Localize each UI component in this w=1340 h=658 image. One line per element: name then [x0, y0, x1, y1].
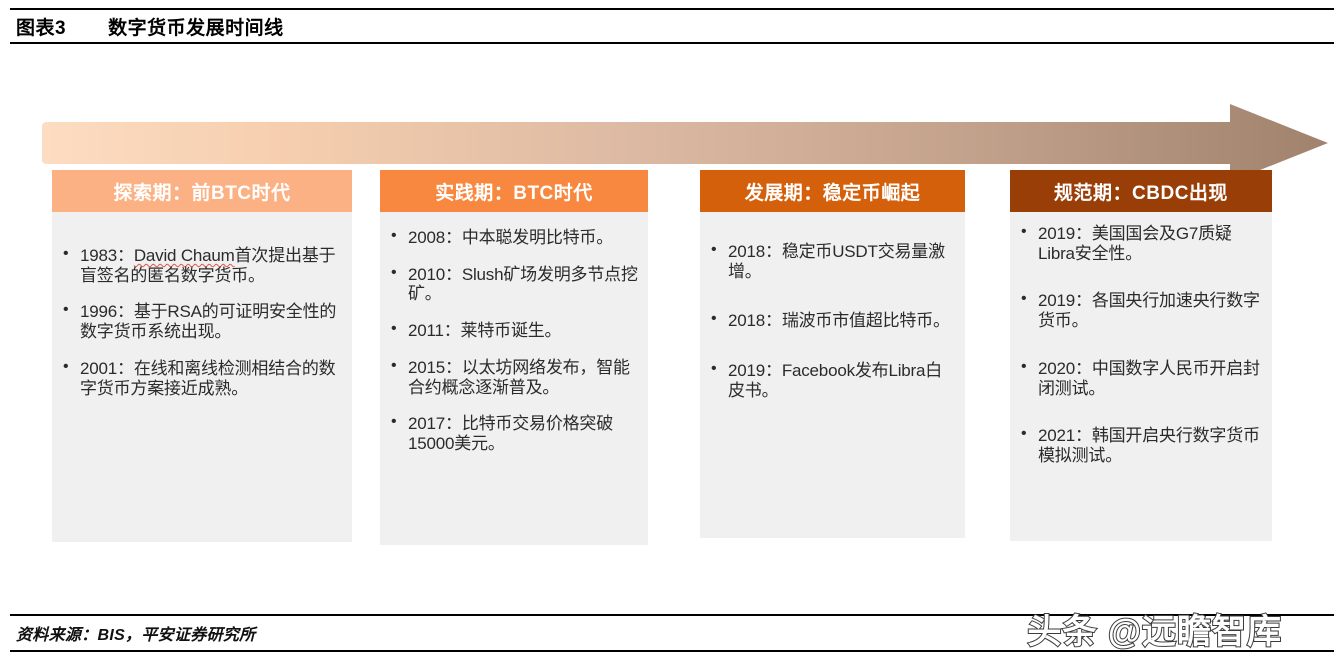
- list-item: 2001：在线和离线检测相结合的数字货币方案接近成熟。: [58, 359, 342, 398]
- bullet-list: 2008：中本聪发明比特币。 2010：Slush矿场发明多节点挖矿。 2011…: [386, 228, 638, 454]
- source-note: 资料来源：BIS，平安证券研究所: [10, 621, 255, 645]
- timeline-column-practice[interactable]: 实践期：BTC时代 2008：中本聪发明比特币。 2010：Slush矿场发明多…: [380, 170, 648, 545]
- column-header-exploration: 探索期：前BTC时代: [52, 170, 352, 212]
- list-item: 2017：比特币交易价格突破15000美元。: [386, 414, 638, 453]
- timeline-columns: 探索期：前BTC时代 1983：David Chaum首次提出基于盲签名的匿名数…: [0, 170, 1340, 550]
- list-item: 2021：韩国开启央行数字货币模拟测试。: [1016, 426, 1262, 465]
- figure-label: 图表3: [10, 13, 66, 40]
- list-item: 2018：瑞波币市值超比特币。: [706, 311, 955, 331]
- column-body-development: 2018：稳定币USDT交易量激增。 2018：瑞波币市值超比特币。 2019：…: [700, 212, 965, 538]
- column-header-development: 发展期：稳定币崛起: [700, 170, 965, 212]
- list-item: 2008：中本聪发明比特币。: [386, 228, 638, 248]
- column-body-practice: 2008：中本聪发明比特币。 2010：Slush矿场发明多节点挖矿。 2011…: [380, 212, 648, 545]
- list-item: 2019：美国国会及G7质疑Libra安全性。: [1016, 224, 1262, 263]
- figure-footer-bar: 资料来源：BIS，平安证券研究所: [10, 614, 1334, 652]
- page-title: 数字货币发展时间线: [108, 13, 284, 40]
- bullet-list: 2019：美国国会及G7质疑Libra安全性。 2019：各国央行加速央行数字货…: [1016, 224, 1262, 466]
- list-item: 2015：以太坊网络发布，智能合约概念逐渐普及。: [386, 358, 638, 397]
- timeline-column-exploration[interactable]: 探索期：前BTC时代 1983：David Chaum首次提出基于盲签名的匿名数…: [52, 170, 352, 542]
- list-item: 2019：Facebook发布Libra白皮书。: [706, 361, 955, 400]
- column-body-regulation: 2019：美国国会及G7质疑Libra安全性。 2019：各国央行加速央行数字货…: [1010, 212, 1272, 541]
- timeline-column-development[interactable]: 发展期：稳定币崛起 2018：稳定币USDT交易量激增。 2018：瑞波币市值超…: [700, 170, 965, 538]
- timeline-column-regulation[interactable]: 规范期：CBDC出现 2019：美国国会及G7质疑Libra安全性。 2019：…: [1010, 170, 1272, 541]
- list-item: 2010：Slush矿场发明多节点挖矿。: [386, 265, 638, 304]
- bullet-list: 1983：David Chaum首次提出基于盲签名的匿名数字货币。 1996：基…: [58, 246, 342, 398]
- figure-header-bar: 图表3 数字货币发展时间线: [10, 8, 1334, 44]
- list-item: 1996：基于RSA的可证明安全性的数字货币系统出现。: [58, 302, 342, 341]
- list-item: 2019：各国央行加速央行数字货币。: [1016, 291, 1262, 330]
- column-body-exploration: 1983：David Chaum首次提出基于盲签名的匿名数字货币。 1996：基…: [52, 212, 352, 542]
- list-item: 2011：莱特币诞生。: [386, 321, 638, 341]
- bullet-list: 2018：稳定币USDT交易量激增。 2018：瑞波币市值超比特币。 2019：…: [706, 242, 955, 401]
- column-header-regulation: 规范期：CBDC出现: [1010, 170, 1272, 212]
- list-item: 2018：稳定币USDT交易量激增。: [706, 242, 955, 281]
- list-item: 2020：中国数字人民币开启封闭测试。: [1016, 359, 1262, 398]
- list-item: 1983：David Chaum首次提出基于盲签名的匿名数字货币。: [58, 246, 342, 285]
- column-header-practice: 实践期：BTC时代: [380, 170, 648, 212]
